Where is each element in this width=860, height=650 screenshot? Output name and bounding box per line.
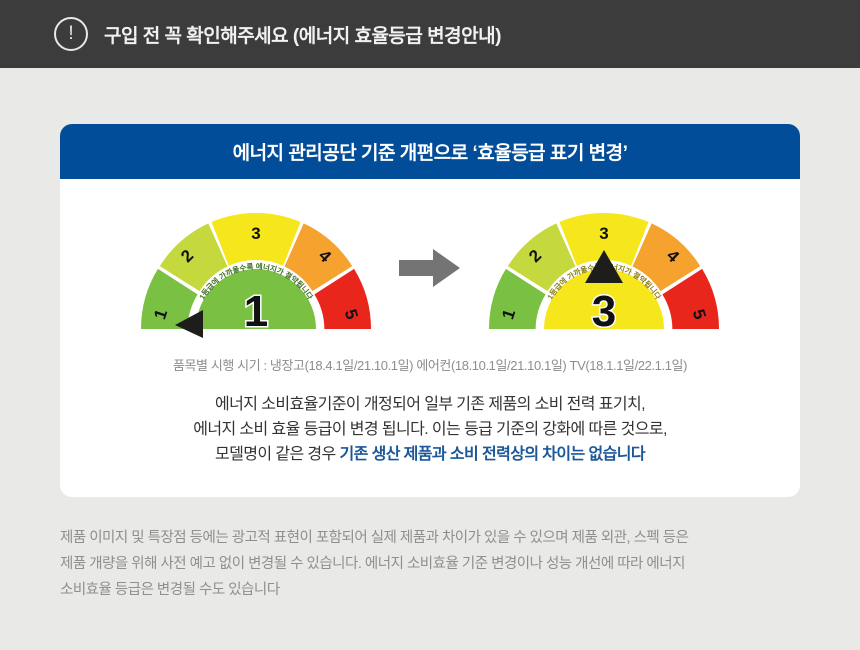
disclaimer-line-3: 소비효율 등급은 변경될 수도 있습니다	[60, 577, 805, 603]
before-gauge: 1 2 3 4 5 1등급에 가까울수록 에너지가 절약됩니다 1	[125, 198, 387, 338]
before-segment-3-label: 3	[251, 224, 260, 243]
before-gauge-grade-value: 1	[125, 290, 387, 334]
transition-arrow	[393, 248, 467, 288]
card-title-bar: 에너지 관리공단 기준 개편으로 ‘효율등급 표기 변경’	[60, 124, 800, 179]
disclaimer-line-1: 제품 이미지 및 특장점 등에는 광고적 표현이 포함되어 실제 제품과 차이가…	[60, 525, 805, 551]
exclamation-circle-icon: !	[54, 17, 88, 51]
description-line-1: 에너지 소비효율기준이 개정되어 일부 기존 제품의 소비 전력 표기치,	[60, 392, 800, 417]
after-segment-3-label: 3	[599, 224, 608, 243]
description-line-3-accent: 기존 생산 제품과 소비 전력상의 차이는 없습니다	[340, 446, 645, 463]
description-block: 에너지 소비효율기준이 개정되어 일부 기존 제품의 소비 전력 표기치, 에너…	[60, 392, 800, 467]
right-arrow-icon	[399, 248, 461, 288]
after-gauge: 1 2 3 4 5 1등급에 가까울수록 에너지가 절약됩니다 3	[473, 198, 735, 338]
exclamation-glyph: !	[68, 24, 73, 43]
description-line-3-normal: 모델명이 같은 경우	[215, 446, 340, 463]
description-line-2: 에너지 소비 효율 등급이 변경 됩니다. 이는 등급 기준의 강화에 따른 것…	[60, 417, 800, 442]
disclaimer-block: 제품 이미지 및 특장점 등에는 광고적 표현이 포함되어 실제 제품과 차이가…	[60, 525, 805, 603]
after-gauge-grade-value: 3	[473, 290, 735, 334]
info-card: 에너지 관리공단 기준 개편으로 ‘효율등급 표기 변경’ 1 2	[60, 124, 800, 497]
gauge-comparison-row: 1 2 3 4 5 1등급에 가까울수록 에너지가 절약됩니다 1	[60, 193, 800, 343]
description-line-3: 모델명이 같은 경우 기존 생산 제품과 소비 전력상의 차이는 없습니다	[60, 442, 800, 467]
page-header: ! 구입 전 꼭 확인해주세요 (에너지 효율등급 변경안내)	[0, 0, 860, 68]
page-title: 구입 전 꼭 확인해주세요 (에너지 효율등급 변경안내)	[104, 21, 501, 48]
disclaimer-line-2: 제품 개량을 위해 사전 예고 없이 변경될 수 있습니다. 에너지 소비효율 …	[60, 551, 805, 577]
right-arrow-shape	[399, 249, 460, 287]
schedule-text: 품목별 시행 시기 : 냉장고(18.4.1일/21.10.1일) 에어컨(18…	[60, 355, 800, 374]
